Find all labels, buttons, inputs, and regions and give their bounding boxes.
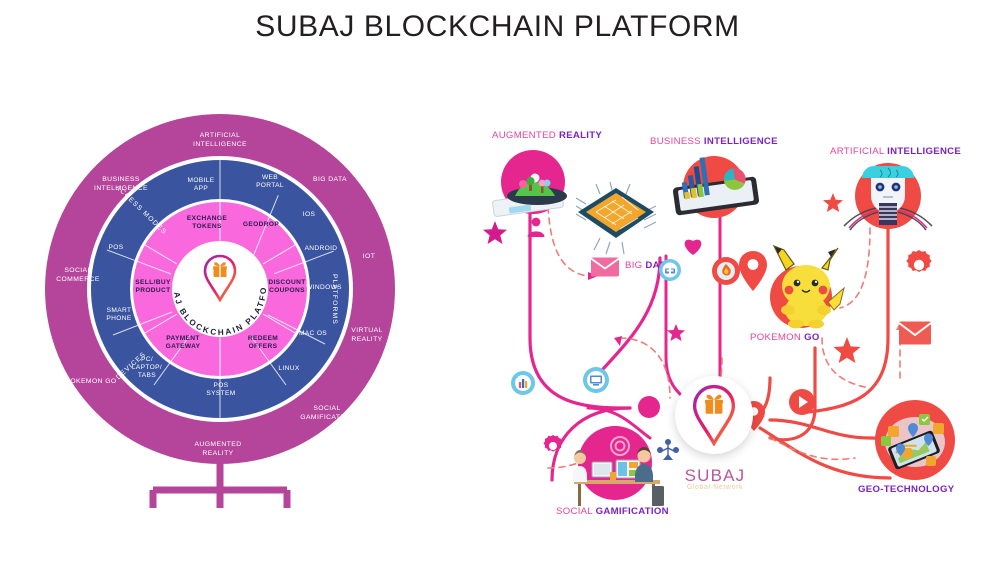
outer-label-social-commerce: SOCIAL COMMERCE: [49, 267, 107, 285]
envelope-icon: [898, 320, 932, 346]
big-data-chip-icon: [570, 180, 662, 262]
badge-chart-icon[interactable]: [510, 370, 536, 396]
band-title-platforms: PLATFORMS: [331, 274, 338, 325]
subaj-pin-logo: [691, 384, 737, 446]
outer-label-pokemon-go: POKEMON GO: [63, 378, 119, 387]
node-label-social-gamification: SOCIAL GAMIFICATION: [556, 506, 669, 517]
badge-medical-icon[interactable]: [658, 258, 682, 282]
play-button-icon[interactable]: [788, 388, 816, 416]
gear-icon: [902, 248, 936, 282]
person-icon: [525, 216, 547, 238]
page-title: SUBAJ BLOCKCHAIN PLATFORM: [0, 10, 995, 44]
star-icon: [832, 336, 862, 366]
ai-robot-head-icon: [838, 156, 938, 238]
heart-icon: [682, 236, 704, 256]
subaj-network-illustration: AUGMENTED REALITY: [470, 108, 995, 573]
pikachu-icon: [766, 244, 846, 330]
star-icon: [482, 220, 508, 246]
outer-label-big-data: BIG DATA: [303, 176, 357, 185]
badge-fire-icon[interactable]: [711, 256, 741, 286]
ar-tablet-landscape-icon: [489, 170, 581, 222]
network-center-logo[interactable]: [675, 376, 753, 454]
node-label-business-intelligence: BUSINESS INTELLIGENCE: [650, 136, 778, 147]
blockchain-wheel-diagram: ARTIFICIAL INTELLIGENCE BIG DATA IOT VIR…: [0, 108, 470, 573]
geo-phone-map-icon: [878, 404, 952, 478]
outer-label-virtual-reality: VIRTUAL REALITY: [343, 327, 391, 345]
outer-label-iot: IOT: [352, 253, 386, 262]
network-brand-tagline: Global Network: [655, 484, 775, 491]
concentric-rings: ARTIFICIAL INTELLIGENCE BIG DATA IOT VIR…: [45, 114, 395, 464]
star-icon: [666, 323, 686, 343]
outer-label-artificial-intelligence: ARTIFICIAL INTELLIGENCE: [190, 132, 250, 150]
dot-icon: [638, 396, 660, 418]
star-icon: [822, 192, 844, 214]
map-pin-icon: [738, 250, 768, 292]
network-brand-name: SUBAJ: [655, 466, 775, 486]
subaj-pin-logo: [203, 254, 237, 302]
node-label-pokemon-go: POKEMON GO: [750, 332, 820, 343]
node-label-geo-technology: GEO-TECHNOLOGY: [858, 484, 954, 495]
outer-label-social-gamification: SOCIAL GAMIFICATION: [294, 405, 360, 423]
badge-monitor-icon[interactable]: [582, 366, 610, 394]
bi-tablet-charts-icon: [660, 148, 770, 220]
infographic-page: SUBAJ BLOCKCHAIN PLATFORM: [0, 0, 995, 573]
node-label-augmented-reality: AUGMENTED REALITY: [492, 130, 602, 141]
outer-label-augmented-reality: AUGMENTED REALITY: [185, 441, 251, 459]
